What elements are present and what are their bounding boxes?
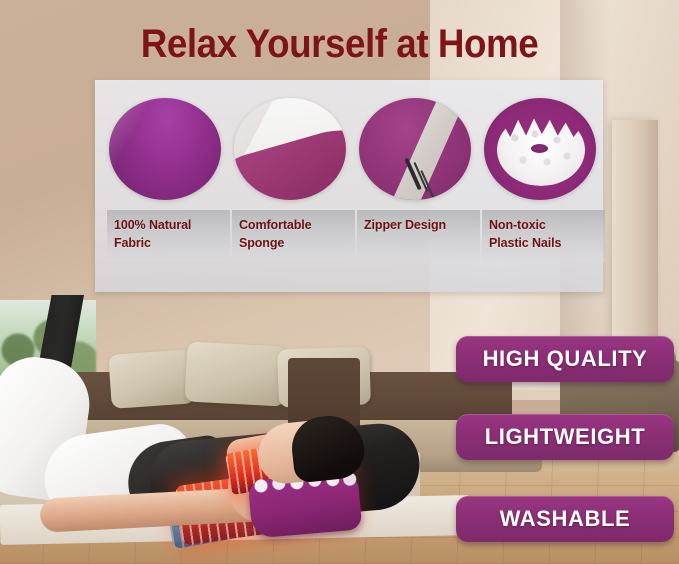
sponge-foam-cutaway-icon [234,98,346,200]
feature-item-comfortable-sponge: Comfortable Sponge [232,98,357,298]
feature-label-line2: Plastic Nails [489,234,598,252]
model-using-product [0,300,360,564]
zipper-closeup-icon [359,98,471,200]
page-title: Relax Yourself at Home [27,22,652,67]
badge-label: WASHABLE [500,506,631,532]
spiked-plastic-disc-icon [484,98,596,200]
badge-lightweight: LIGHTWEIGHT [456,414,674,460]
product-marketing-image: Relax Yourself at Home 100% Natural Fabr… [0,0,679,564]
feature-label-natural-fabric: 100% Natural Fabric [107,210,230,262]
purple-fabric-swatch-icon [109,98,221,200]
feature-label-line2: Sponge [239,234,348,252]
feature-label-line2: Fabric [114,234,223,252]
badge-label: HIGH QUALITY [483,346,648,372]
feature-label-line1: Zipper Design [364,216,473,234]
nail-center-hole [531,144,548,153]
feature-label-plastic-nails: Non-toxic Plastic Nails [482,210,605,262]
feature-item-natural-fabric: 100% Natural Fabric [107,98,232,298]
feature-list: 100% Natural Fabric Comfortable Sponge Z… [95,80,603,292]
badge-high-quality: HIGH QUALITY [456,336,674,382]
feature-item-plastic-nails: Non-toxic Plastic Nails [482,98,607,298]
feature-label-line1: 100% Natural [114,216,223,234]
badge-label: LIGHTWEIGHT [485,424,646,450]
feature-label-line1: Comfortable [239,216,348,234]
feature-panel: 100% Natural Fabric Comfortable Sponge Z… [95,80,603,292]
feature-item-zipper-design: Zipper Design [357,98,482,298]
badge-washable: WASHABLE [456,496,674,542]
feature-label-comfortable-sponge: Comfortable Sponge [232,210,355,262]
feature-label-line1: Non-toxic [489,216,598,234]
feature-label-zipper-design: Zipper Design [357,210,480,262]
